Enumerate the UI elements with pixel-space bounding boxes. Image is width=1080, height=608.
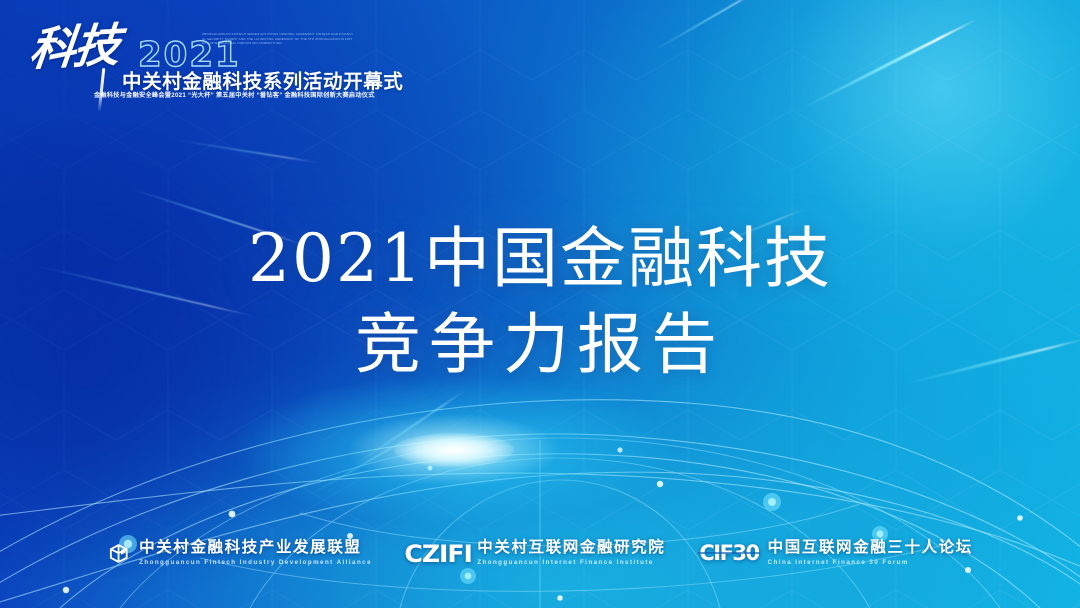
poster-canvas: 科技 2021 ZHONGGUANCUN FINTECH SERIES ACTI… (0, 0, 1080, 608)
main-title-line-2: 竞争力报告 (0, 302, 1080, 388)
footer-logo-cif30-cn: 中国互联网金融三十人论坛 (768, 539, 973, 557)
footer-logo-czifi: CZIFI 中关村互联网金融研究院 Zhongguancun Internet … (406, 539, 665, 568)
main-title-block: 2021中国金融科技 竞争力报告 (0, 216, 1080, 388)
footer-logo-alliance-text: 中关村金融科技产业发展联盟 Zhongguancun Fintech Indus… (139, 539, 372, 568)
light-streak-1 (800, 17, 980, 110)
footer-logo-alliance-en: Zhongguancun Fintech Industry Developmen… (139, 559, 372, 568)
light-streak-6 (308, 435, 413, 497)
footer-logo-alliance: 中关村金融科技产业发展联盟 Zhongguancun Fintech Indus… (107, 539, 372, 568)
footer-logo-cif30: CIF30 中国互联网金融三十人论坛 China Internet Financ… (699, 539, 973, 568)
center-light-core (394, 433, 514, 467)
footer-logo-cif30-en: China Internet Finance 30 Forum (768, 559, 973, 568)
event-english-microtext: ZHONGGUANCUN FINTECH SERIES ACTIVITIES O… (202, 32, 354, 46)
footer-logo-czifi-text: 中关村互联网金融研究院 Zhongguancun Internet Financ… (477, 539, 665, 568)
footer-logo-alliance-cn: 中关村金融科技产业发展联盟 (139, 539, 372, 557)
brush-calligraphy-keji: 科技 (27, 22, 120, 73)
czifi-wordmark-icon: CZIFI (404, 542, 471, 566)
event-sub-title: 金融科技与金融安全峰会暨2021 “光大杯” 第五届中关村 “番钻客” 金融科技… (94, 90, 375, 99)
cif30-wordmark-wrap: CIF30 (699, 543, 760, 565)
footer-logo-bar: 中关村金融科技产业发展联盟 Zhongguancun Fintech Indus… (0, 539, 1080, 568)
cif30-wordmark-icon: CIF30 (699, 541, 758, 565)
footer-logo-czifi-en: Zhongguancun Internet Finance Institute (477, 559, 665, 568)
main-title-line-1: 2021中国金融科技 (0, 216, 1080, 302)
center-light-burst (234, 375, 674, 525)
footer-logo-czifi-cn: 中关村互联网金融研究院 (477, 539, 665, 557)
light-streak-5 (342, 388, 467, 474)
light-streak-2 (648, 0, 762, 54)
light-streak-8 (171, 138, 319, 163)
cube-mark-icon (107, 541, 132, 566)
event-logo: 科技 2021 ZHONGGUANCUN FINTECH SERIES ACTI… (26, 18, 356, 110)
footer-logo-cif30-text: 中国互联网金融三十人论坛 China Internet Finance 30 F… (768, 539, 973, 568)
